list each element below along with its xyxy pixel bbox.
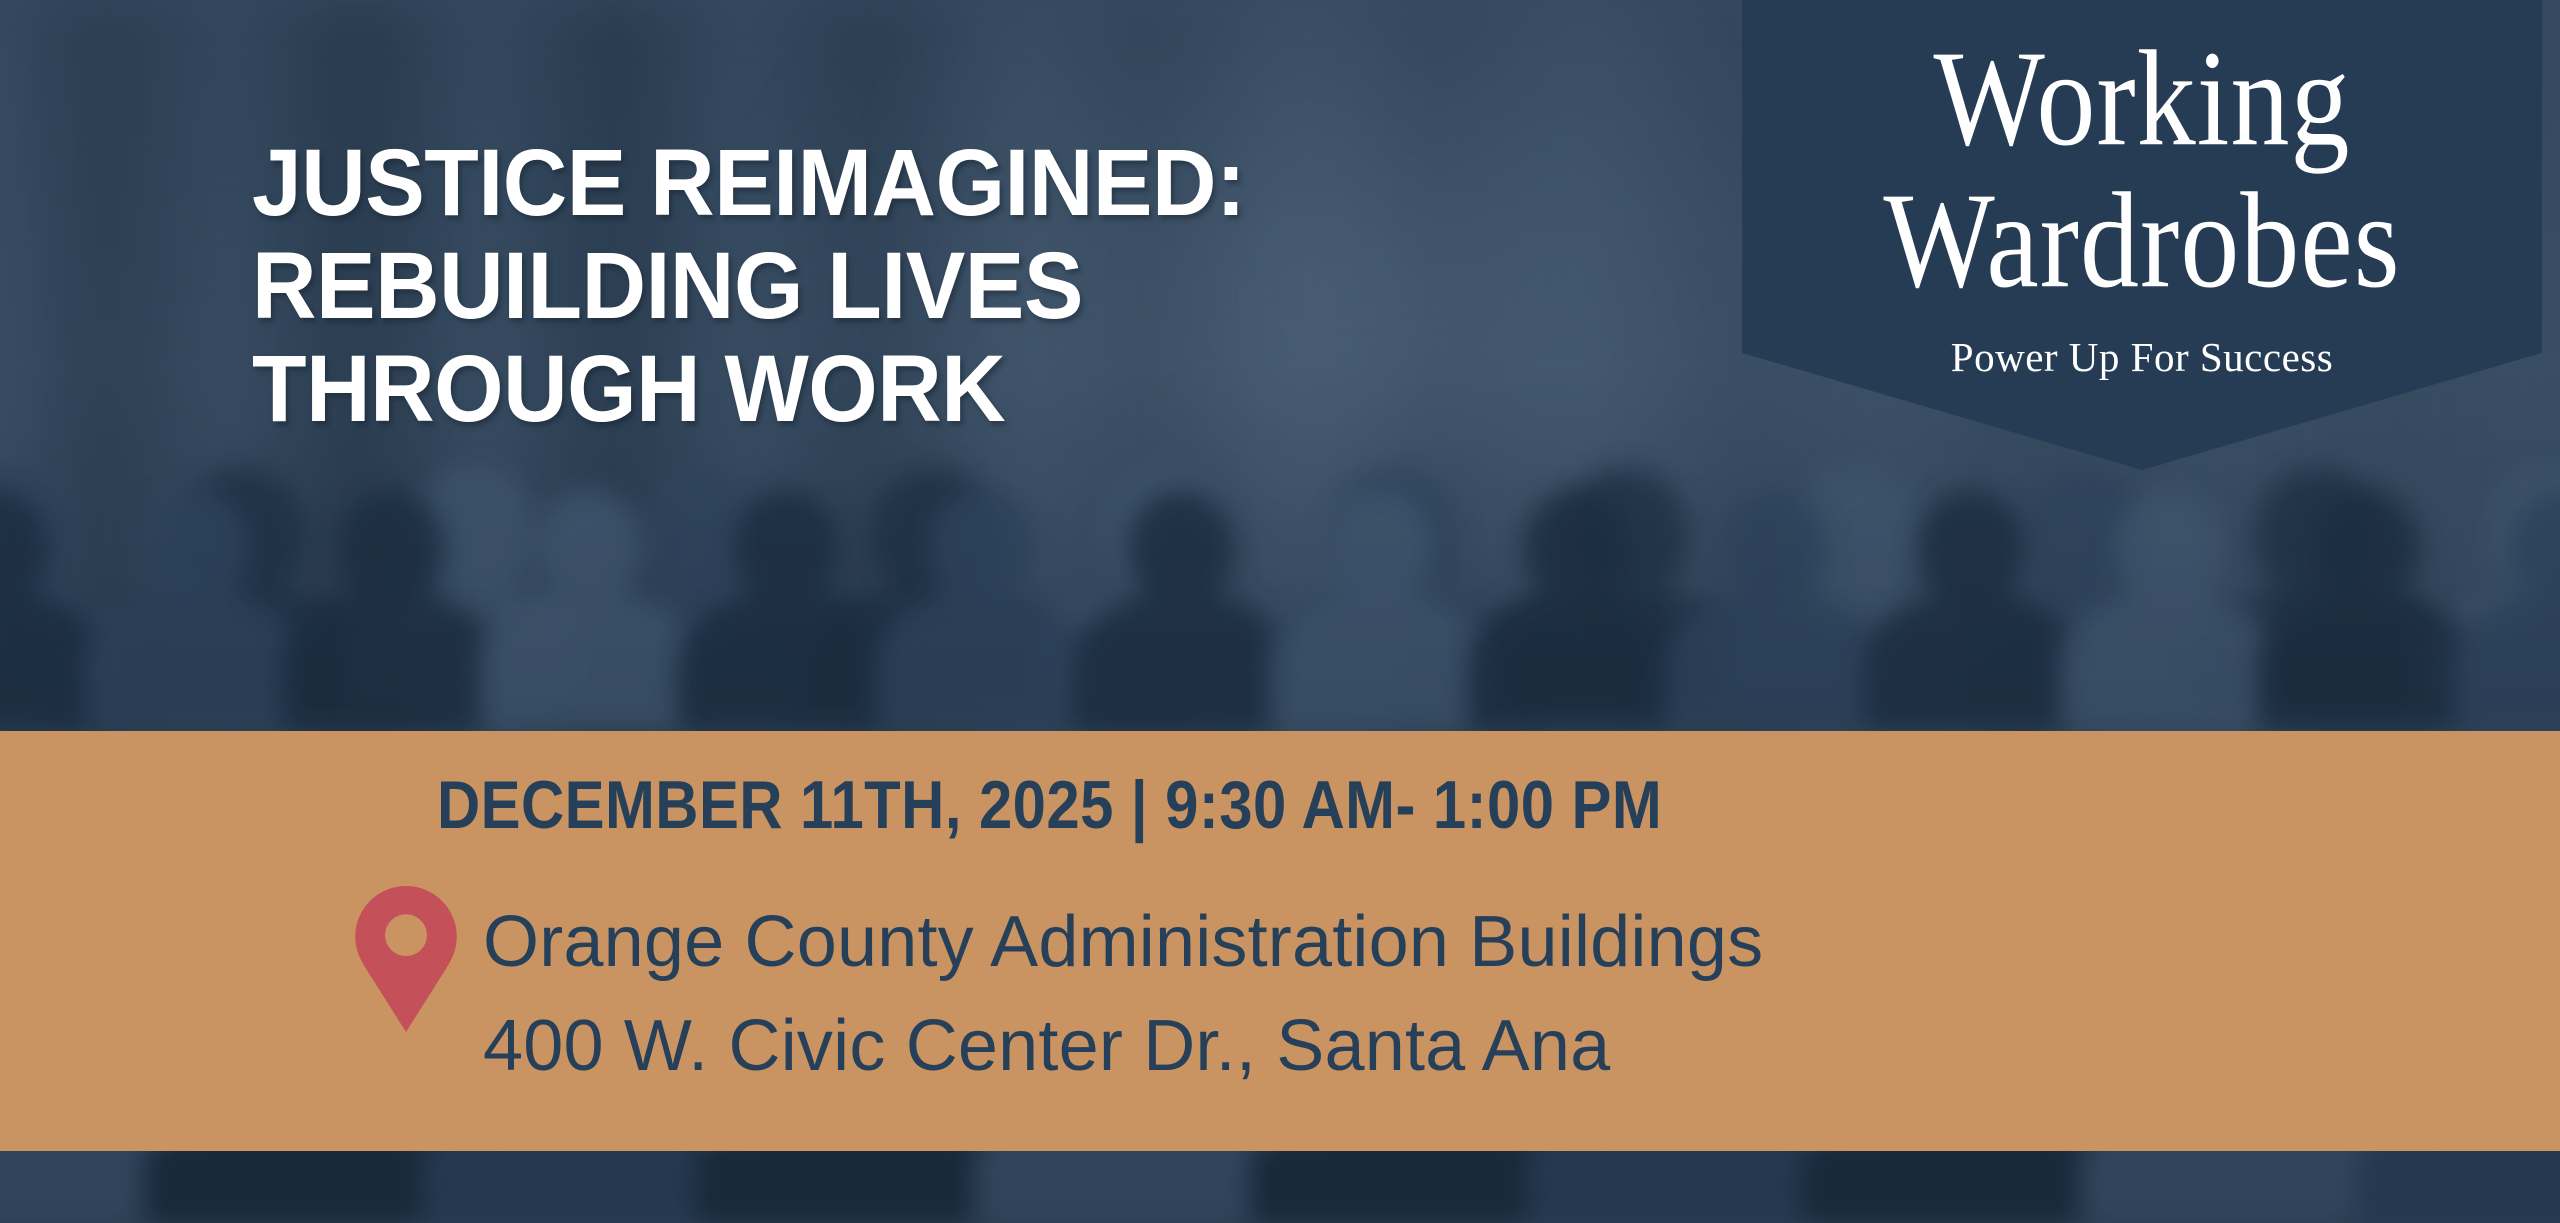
- logo-tagline: Power Up For Success: [1951, 334, 2333, 380]
- logo-word-working: Working: [1933, 34, 2350, 164]
- event-banner: JUSTICE REIMAGINED: REBUILDING LIVES THR…: [0, 0, 2560, 1223]
- venue-text: Orange County Administration Buildings 4…: [483, 886, 1763, 1098]
- event-date-time: DECEMBER 11TH, 2025 | 9:30 AM- 1:00 PM: [437, 767, 1662, 843]
- headline-line-2: REBUILDING LIVES: [252, 235, 1587, 338]
- map-pin-icon: [355, 886, 457, 1032]
- event-info-band: DECEMBER 11TH, 2025 | 9:30 AM- 1:00 PM O…: [0, 731, 2560, 1151]
- headline-line-1: JUSTICE REIMAGINED:: [252, 132, 1587, 235]
- logo-word-wardrobes: Wardrobes: [1883, 176, 2400, 306]
- page-title: JUSTICE REIMAGINED: REBUILDING LIVES THR…: [252, 132, 1672, 441]
- headline-line-3: THROUGH WORK: [252, 338, 1587, 441]
- venue-block: Orange County Administration Buildings 4…: [355, 886, 1763, 1098]
- venue-name: Orange County Administration Buildings: [483, 890, 1763, 994]
- venue-address: 400 W. Civic Center Dr., Santa Ana: [483, 994, 1763, 1098]
